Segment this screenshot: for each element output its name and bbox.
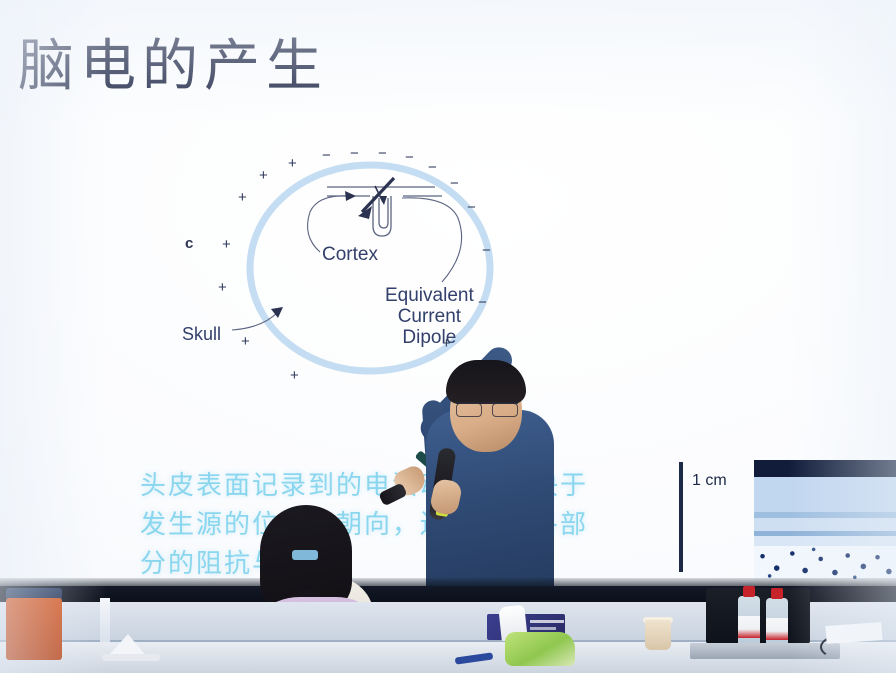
scale-bar-label: 1 cm — [692, 472, 727, 490]
eeg-dipole-figure: c Cortex Skull Equivalent Current Dipole… — [170, 140, 590, 410]
scale-bar — [679, 462, 683, 572]
charge-plus: + — [442, 336, 451, 351]
charge-plus: + — [218, 280, 227, 295]
charge-minus: − — [478, 295, 487, 310]
charge-plus: + — [238, 190, 247, 205]
layer-inner-table — [754, 536, 896, 546]
layer-scalp — [754, 460, 896, 477]
body-line-2: 发生源的位置和朝向，还依赖于各部 — [140, 505, 610, 544]
charge-plus: + — [259, 168, 268, 183]
label-dipole-line2: Current — [398, 306, 461, 327]
charge-minus: − — [350, 146, 359, 161]
label-skull: Skull — [182, 324, 221, 345]
dipole-arrow-shaft — [362, 178, 394, 212]
panel-letter-c: c — [185, 235, 193, 252]
dipole-secondary-head — [379, 196, 387, 205]
head-diagram-svg — [170, 140, 590, 410]
skull-cross-section — [754, 460, 896, 580]
dipole-leader — [402, 198, 462, 282]
charge-minus: − — [405, 150, 414, 165]
label-cortex: Cortex — [322, 244, 378, 266]
slide-title: 脑电的产生 — [18, 38, 328, 94]
body-line-3: 分的阻抗与形状 — [140, 544, 610, 583]
slide-body-text: 头皮表面记录到的电活动不仅取决于 发生源的位置和朝向，还依赖于各部 分的阻抗与形… — [140, 466, 610, 583]
charge-minus: − — [467, 200, 476, 215]
body-line-1: 头皮表面记录到的电活动不仅取决于 — [140, 466, 610, 505]
cortex-leader-head — [345, 191, 356, 201]
layer-diploe — [754, 518, 896, 531]
layer-spongy-bone — [754, 546, 896, 580]
label-dipole-line1: Equivalent — [385, 285, 474, 306]
charge-minus: − — [428, 160, 437, 175]
charge-plus: + — [288, 156, 297, 171]
lecture-photo: 脑电的产生 c Cortex — [0, 0, 896, 673]
charge-plus: + — [241, 334, 250, 349]
charge-plus: + — [290, 368, 299, 383]
label-equivalent-current-dipole: Equivalent Current Dipole — [385, 285, 474, 348]
charge-minus: − — [450, 176, 459, 191]
layer-outer-table — [754, 477, 896, 512]
charge-plus: + — [222, 237, 231, 252]
charge-minus: − — [378, 146, 387, 161]
charge-minus: − — [482, 243, 491, 258]
charge-minus: − — [322, 148, 331, 163]
